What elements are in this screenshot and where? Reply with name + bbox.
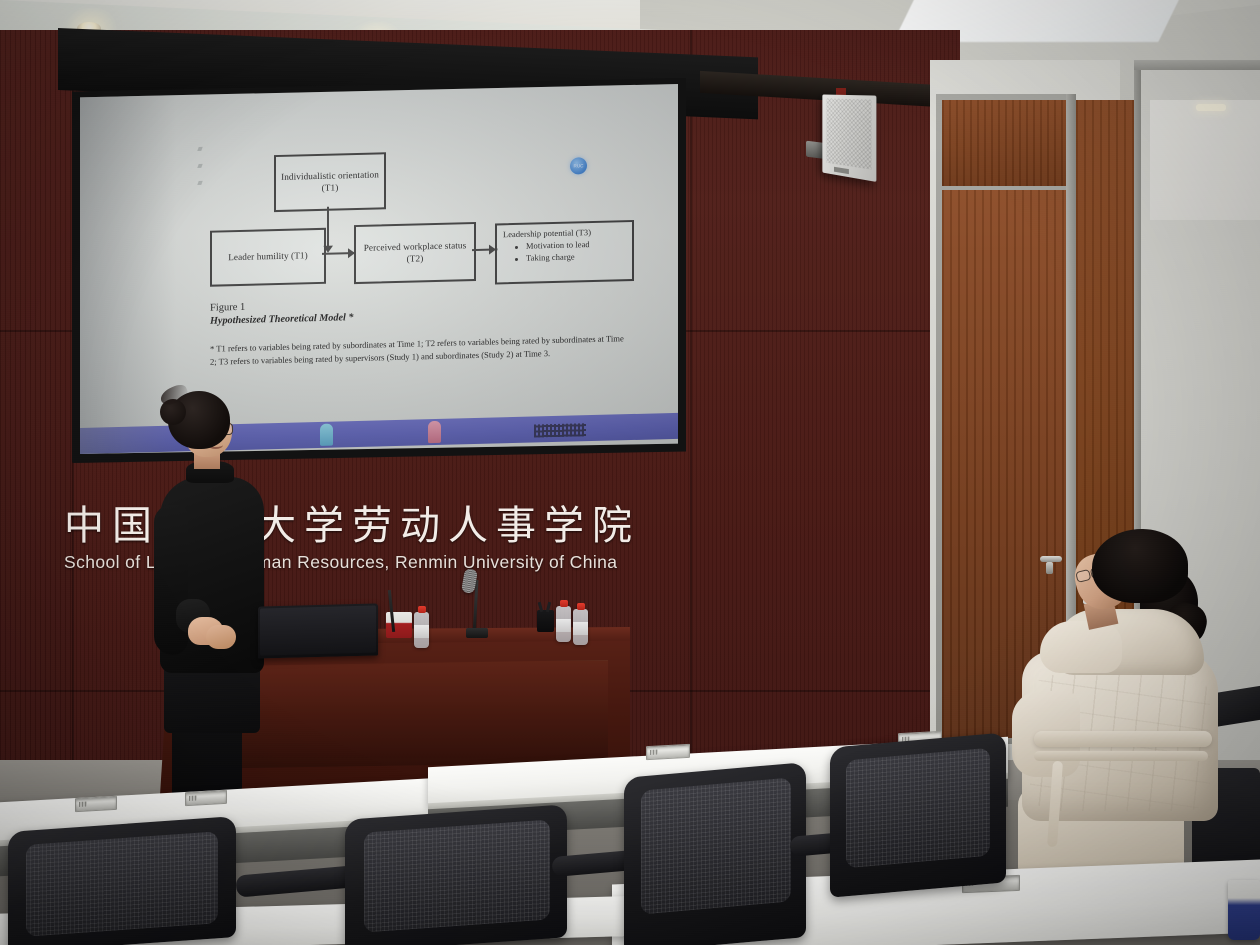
leadership-potential-bullet-2: Taking charge (515, 251, 628, 264)
water-bottle (414, 612, 429, 648)
chair-mesh (364, 819, 550, 932)
chair-mesh (641, 777, 791, 914)
presenter-arm (154, 505, 188, 655)
slide-bullet-marks (198, 147, 202, 198)
audience-jacket-belt (1034, 751, 1208, 761)
cable-grommet (646, 744, 690, 760)
figure-label: Figure 1 (210, 302, 245, 314)
wall-speaker-icon (822, 94, 876, 181)
leadership-potential-bullet-1: Motivation to lead (515, 239, 628, 252)
water-bottle (556, 606, 571, 642)
wall-seam (690, 30, 692, 820)
cable-grommet (185, 790, 227, 806)
diagram-box-leadership-potential: Leadership potential (T3) Motivation to … (495, 220, 634, 285)
figure-title: Hypothesized Theoretical Model * (210, 312, 353, 327)
banner-figure-icon (428, 421, 441, 443)
glass-header-rail (1134, 60, 1260, 70)
water-bottle (573, 609, 588, 645)
audience-hair (1092, 529, 1188, 603)
figure-caption: Figure 1 Hypothesized Theoretical Model … (210, 299, 353, 327)
slide-logo-badge-text: RUC (570, 157, 587, 174)
diagram-box-individualistic-orientation: Individualistic orientation (T1) (274, 152, 386, 212)
presenter (150, 385, 330, 805)
cable-grommet (75, 796, 117, 812)
speaker-grill (826, 98, 871, 169)
podium-laptop[interactable] (258, 603, 378, 658)
pen-holder (537, 610, 554, 632)
door-transom-panel (942, 100, 1066, 186)
figure-footnote: * T1 refers to variables being rated by … (210, 332, 630, 368)
diagram-box-leader-humility: Leader humility (T1) (210, 228, 326, 287)
diagram-box-perceived-workplace-status: Perceived workplace status (T2) (354, 222, 476, 284)
audience-jacket-belt (1034, 731, 1212, 747)
chair-mesh (846, 748, 990, 869)
presenter-hand (206, 625, 236, 649)
microphone-base (466, 628, 488, 638)
banner-logo (534, 423, 586, 437)
blue-cup (1228, 880, 1260, 940)
corridor-behind-glass (1150, 100, 1260, 220)
audience-member (1000, 525, 1240, 885)
corridor-ceiling-light (1196, 104, 1226, 111)
connector-line-vertical (327, 207, 329, 249)
wall-left-panel (0, 30, 72, 820)
lecture-room-photo: Individualistic orientation (T1) Leader … (0, 0, 1260, 945)
chair-mesh (26, 831, 218, 936)
audience-jacket-hood-fold (1040, 621, 1122, 673)
speaker-brand-logo (834, 167, 849, 174)
slide-logo-badge: RUC (570, 157, 587, 174)
